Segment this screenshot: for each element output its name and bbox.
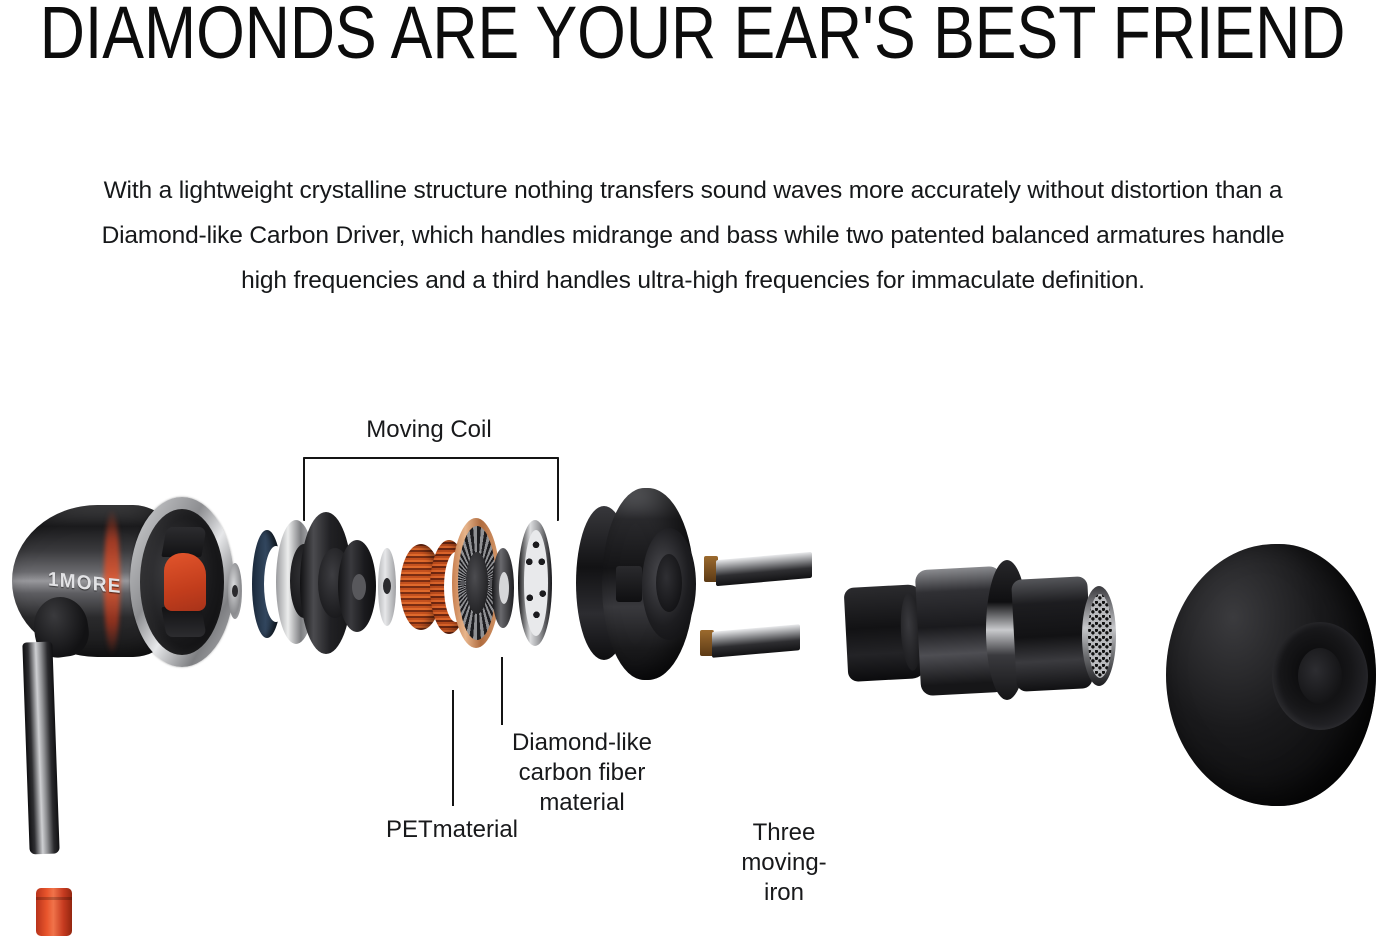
part-washer — [228, 563, 242, 619]
exploded-view-diagram: 1MORE Moving Coil — [0, 0, 1386, 948]
callout-moving-coil: Moving Coil — [303, 415, 555, 444]
part-spacer-disc — [378, 548, 396, 626]
callout-moving-coil-bracket — [303, 457, 559, 521]
housing-tab-bottom — [161, 607, 206, 637]
driver-hub — [656, 554, 682, 612]
callout-pet-material-leader — [452, 690, 454, 806]
red-cable-collar — [36, 888, 72, 936]
ear-tip-bore — [1272, 622, 1368, 730]
cable-stem — [22, 642, 59, 855]
earphone-housing: 1MORE — [12, 497, 224, 669]
rubber-sleeve — [844, 584, 927, 682]
housing-orange-damper — [164, 553, 206, 611]
part-pole-piece — [338, 540, 376, 632]
callout-diamond-like-leader — [501, 657, 503, 725]
part-perforated-plate — [518, 520, 552, 646]
callout-three-moving-iron: Three moving- iron — [722, 818, 846, 908]
armature-pin-2 — [712, 624, 800, 658]
driver-keyway — [616, 566, 642, 602]
callout-pet-material: PETmaterial — [352, 815, 552, 844]
armature-pin-1 — [716, 552, 812, 586]
nozzle-barrel-front — [1011, 576, 1093, 692]
silicone-ear-tip — [1166, 544, 1376, 806]
driver-assembly — [576, 488, 708, 680]
part-dlc-disc — [492, 548, 514, 628]
mesh-filter — [1088, 594, 1112, 678]
callout-diamond-like: Diamond-like carbon fiber material — [494, 728, 670, 818]
